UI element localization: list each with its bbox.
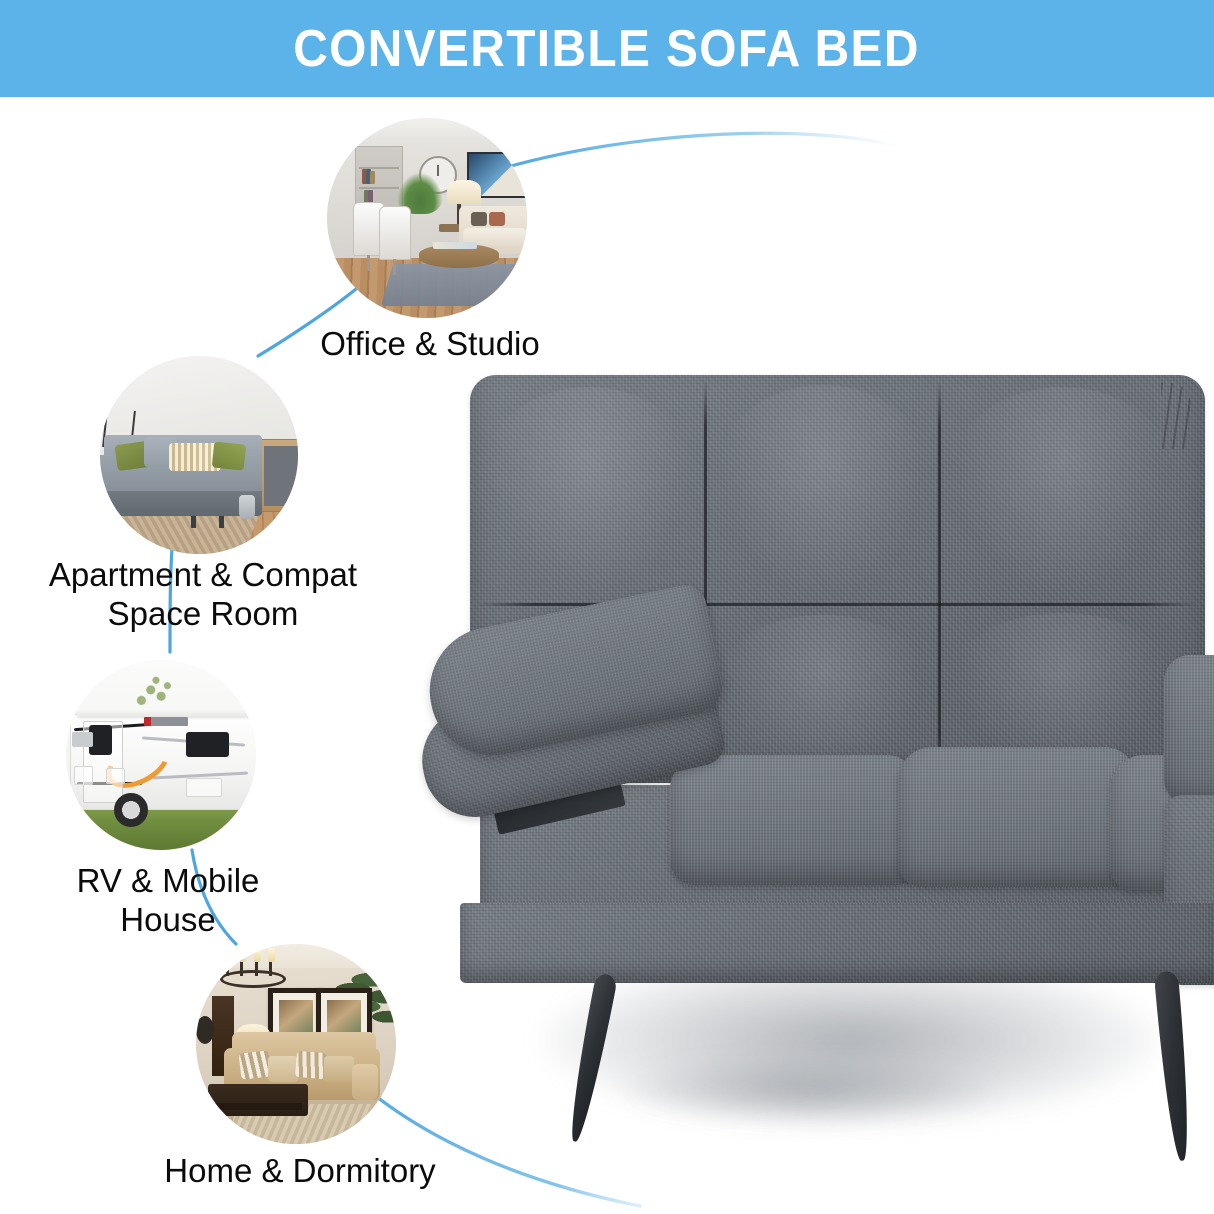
product-infographic: CONVERTIBLE SOFA BED bbox=[0, 0, 1214, 1214]
rv-mobile-house-photo bbox=[66, 660, 256, 850]
header-banner: CONVERTIBLE SOFA BED bbox=[0, 0, 1214, 97]
sofa-leg-front-right bbox=[1154, 970, 1194, 1161]
sofa-seat-cushion-left bbox=[670, 755, 920, 885]
connector-office-arc bbox=[497, 133, 905, 170]
home-dormitory-photo bbox=[196, 944, 396, 1144]
office-studio-photo bbox=[327, 118, 527, 318]
tuft-seam-vertical bbox=[938, 379, 941, 783]
sofa-right-cushion bbox=[1164, 655, 1214, 805]
page-title: CONVERTIBLE SOFA BED bbox=[294, 23, 921, 75]
sofa-leg-shadow bbox=[620, 1055, 1000, 1125]
convertible-sofa-bed-photo bbox=[420, 355, 1214, 1155]
home-dormitory-caption: Home & Dormitory bbox=[60, 1152, 540, 1191]
apartment-room-photo bbox=[100, 356, 298, 554]
sofa-seat-cushion-center bbox=[898, 747, 1138, 887]
apartment-room-caption: Apartment & Compat Space Room bbox=[8, 556, 398, 634]
rv-mobile-house-caption: RV & Mobile House bbox=[0, 862, 348, 940]
sofa-base-platform bbox=[460, 903, 1214, 983]
